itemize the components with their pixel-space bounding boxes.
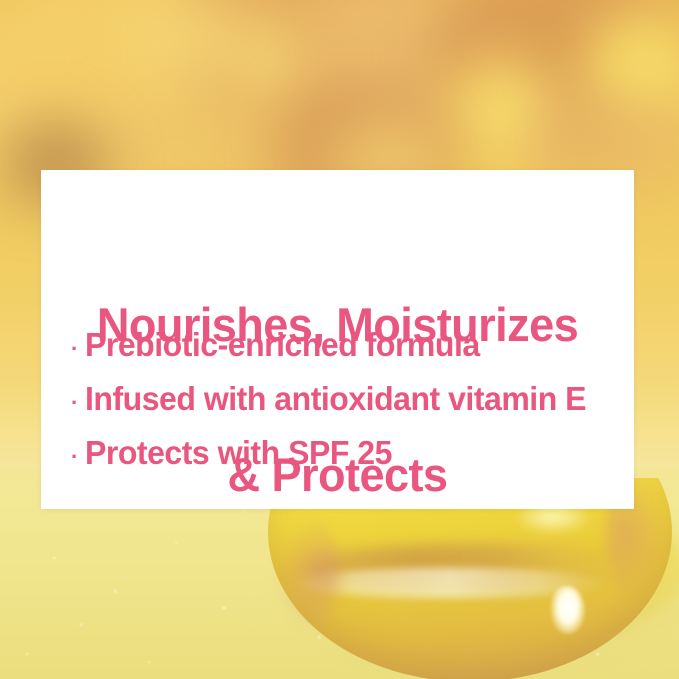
list-item-label: Protects with SPF 25 (85, 436, 606, 470)
benefit-list: · Prebiotic-enriched formula · Infused w… (71, 328, 622, 474)
list-item: · Infused with antioxidant vitamin E (71, 382, 622, 420)
list-item-label: Infused with antioxidant vitamin E (85, 382, 606, 416)
bullet-dot-icon: · (71, 332, 85, 366)
bullet-dot-icon: · (71, 440, 85, 474)
list-item: · Protects with SPF 25 (71, 436, 622, 474)
text-card: Nourishes, Moisturizes & Protects · Preb… (41, 170, 634, 509)
list-item-label: Prebiotic-enriched formula (85, 328, 606, 362)
product-marketing-image: Nourishes, Moisturizes & Protects · Preb… (0, 0, 679, 679)
list-item: · Prebiotic-enriched formula (71, 328, 622, 366)
bullet-dot-icon: · (71, 386, 85, 420)
